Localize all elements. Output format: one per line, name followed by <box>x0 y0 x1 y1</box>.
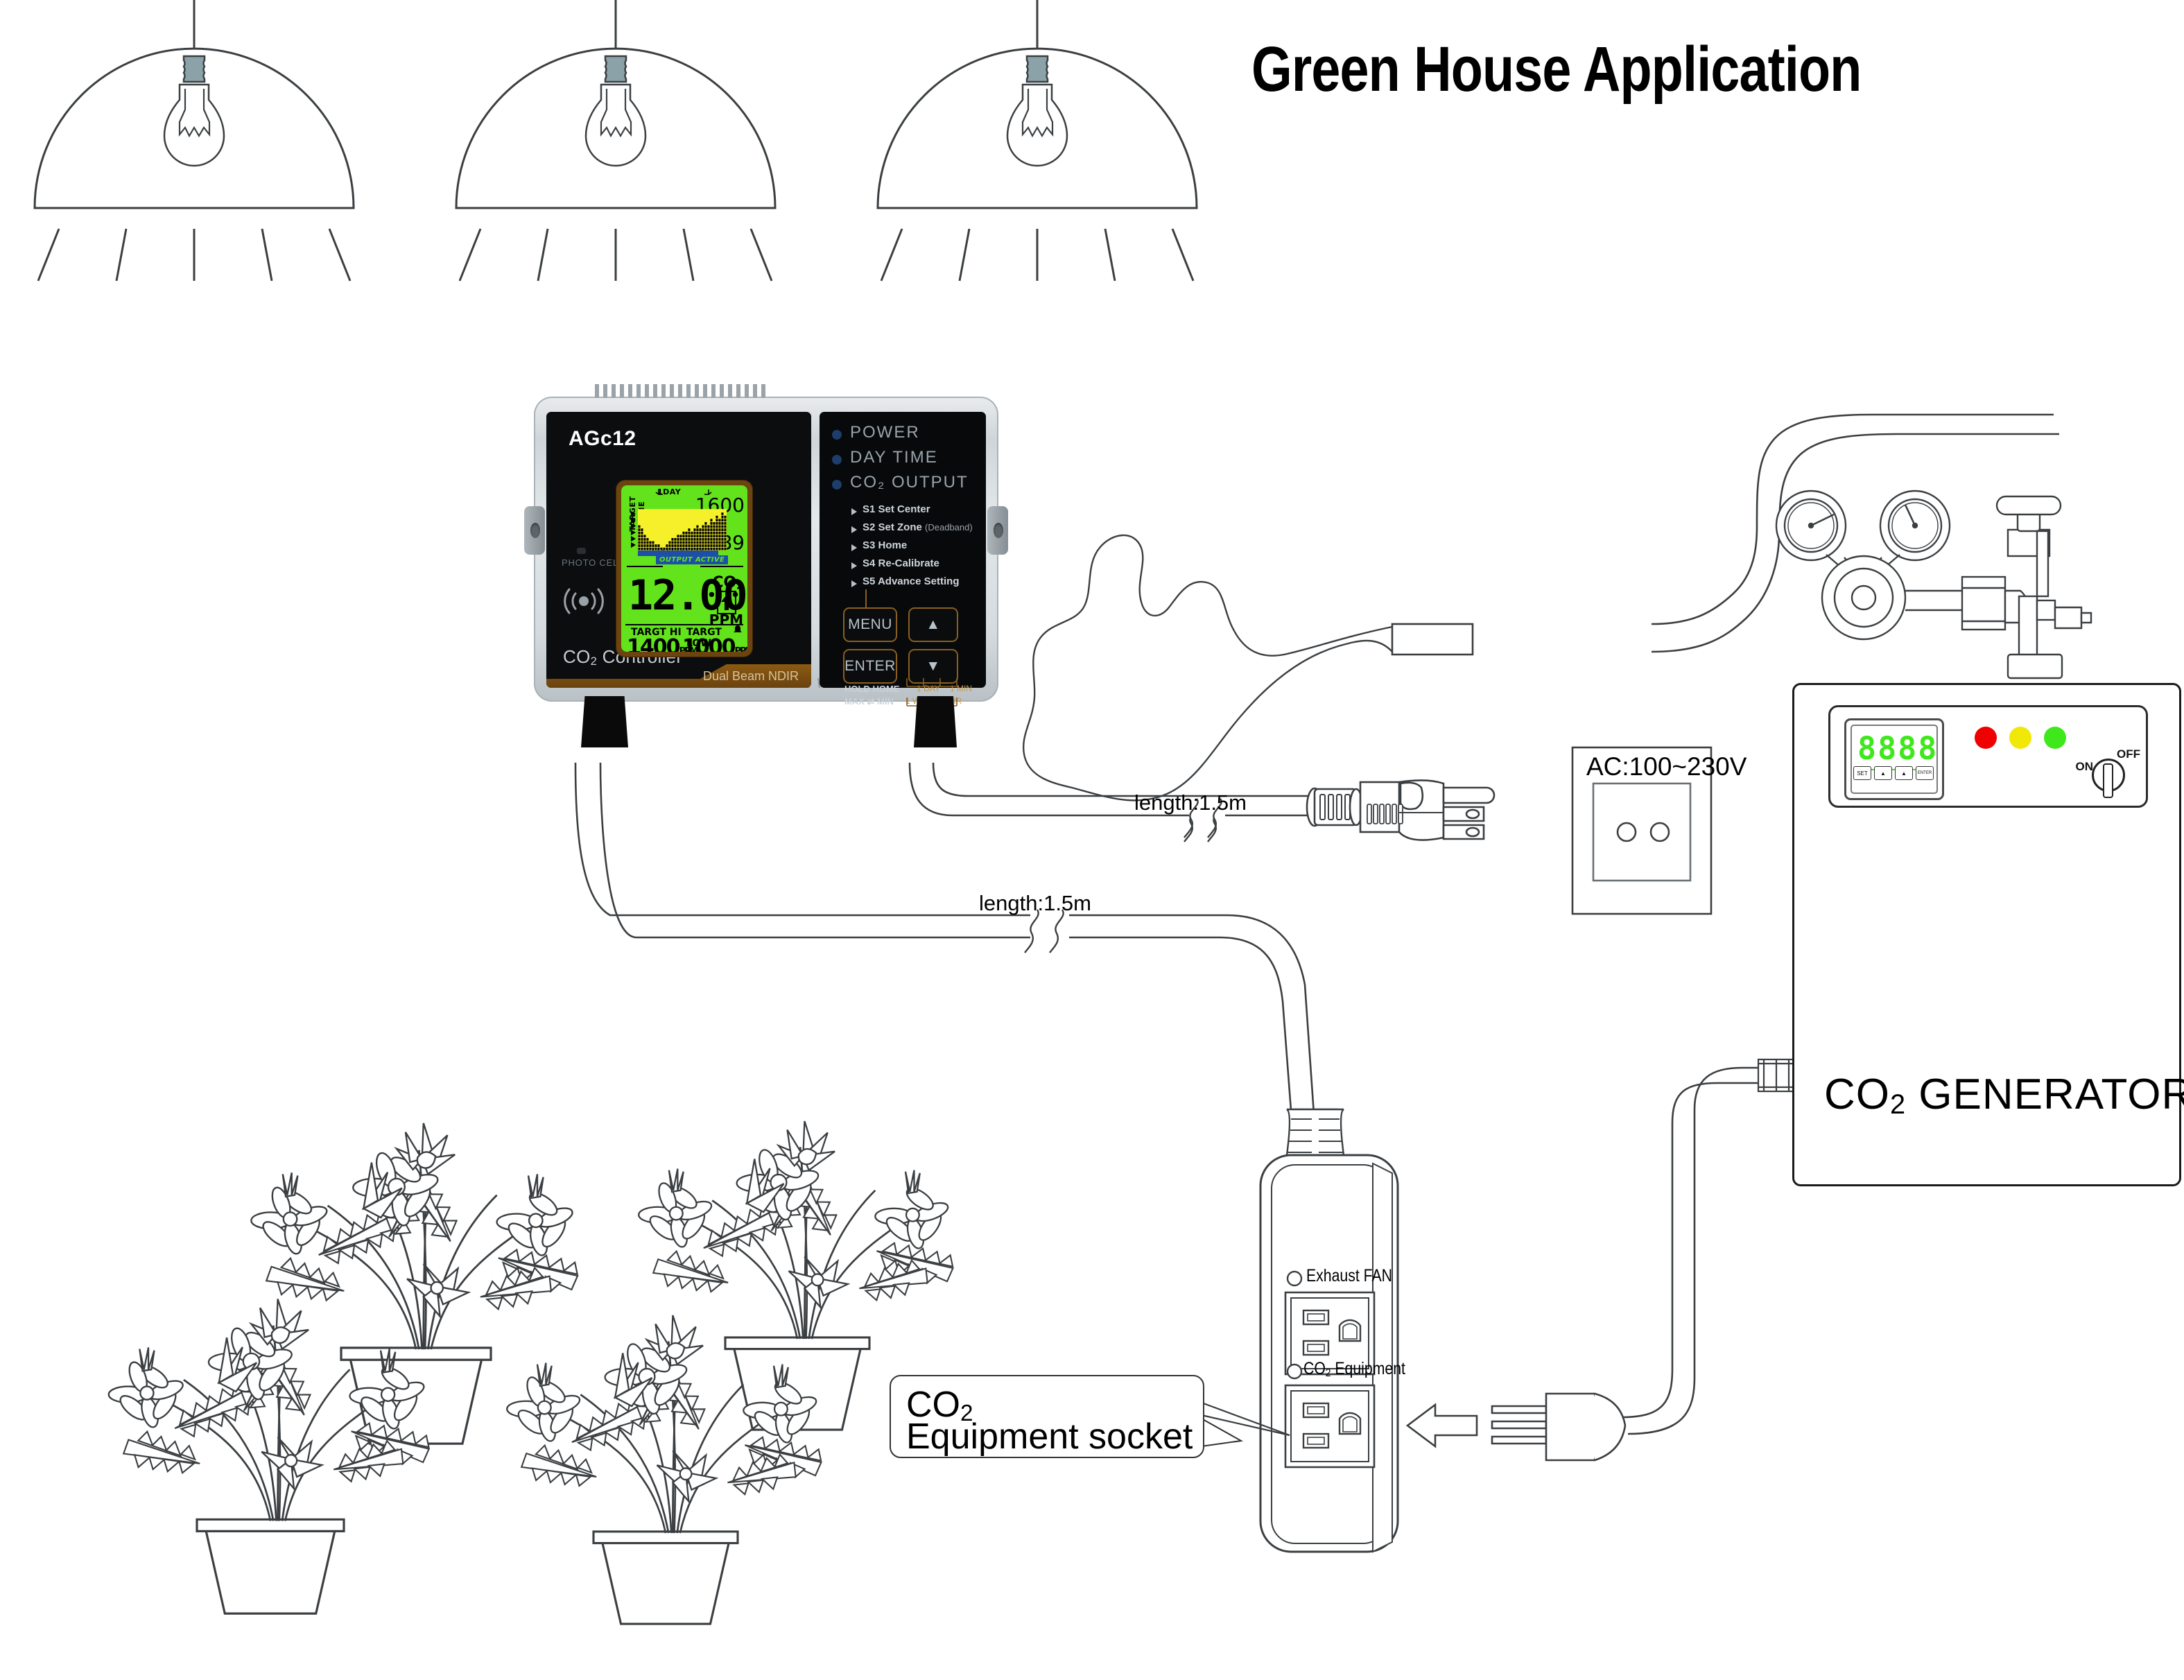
mount-hole-right <box>994 523 1003 538</box>
callout-line-2: Equipment socket <box>906 1415 1193 1459</box>
menu-button[interactable]: MENU <box>843 607 897 642</box>
led-alarm-red <box>1975 727 1997 749</box>
page-title: Green House Application <box>1251 33 1862 106</box>
generator-display: 8888 <box>1851 725 1938 794</box>
generator-enter-button[interactable]: ENTER <box>1916 766 1934 780</box>
led-warn-yellow <box>2009 727 2031 749</box>
controller-side-panel: POWER DAY TIME CO₂ OUTPUT S1 Set Center … <box>820 412 986 688</box>
plants-group <box>109 1121 957 1624</box>
generator-control-panel: 8888 SET ▲ ▲ ENTER ON OFF <box>1828 705 2148 808</box>
lcd-divider-left <box>627 566 663 567</box>
max-min-hint: MAX ⇄ MIN <box>844 696 894 707</box>
wireless-sensor-icon <box>562 587 606 616</box>
menu-item-s4: S4 Re-Calibrate <box>863 557 939 569</box>
enter-button[interactable]: ENTER <box>843 649 897 684</box>
power-switch-knob[interactable] <box>2092 759 2125 792</box>
hose-connector <box>1392 624 1473 655</box>
lcd-divider-right <box>700 566 743 567</box>
lamp-group <box>35 0 1197 281</box>
vent-slots-top <box>595 384 770 399</box>
generator-set-button[interactable]: SET <box>1853 766 1871 780</box>
generator-title: CO2 GENERATOR <box>1824 1070 2184 1120</box>
cable-gland-right <box>914 696 957 747</box>
up-button[interactable]: ▲ <box>908 607 958 642</box>
menu-item-s2: S2 Set Zone (Deadband) <box>863 521 973 533</box>
power-cable <box>910 763 1310 815</box>
output-active-label: OUTPUT ACTIVE <box>656 555 728 564</box>
generator-display-value: 8888 <box>1857 730 1938 767</box>
cable-gland-left <box>581 696 628 747</box>
power-strip <box>1260 1109 1398 1552</box>
controller-front-panel: AGc12 PHOTO CELL CO2 Controller Dual Bea… <box>546 412 811 688</box>
menu-item-s5: S5 Advance Setting <box>863 575 959 587</box>
callout-box: CO2 Equipment socket <box>890 1375 1204 1458</box>
menu-item-s1: S1 Set Center <box>863 503 930 515</box>
knob-indicator <box>2103 763 2113 798</box>
bullet-arrow-1-icon <box>851 508 857 515</box>
hose-coil <box>1023 535 1392 800</box>
mount-hole-left <box>530 523 540 538</box>
menu-connector-line <box>865 589 867 607</box>
photocell-sensor <box>577 548 586 554</box>
tech-band-label: Dual Beam NDIR <box>703 669 799 684</box>
generator-plug <box>1492 1394 1625 1460</box>
switch-on-label: ON <box>2076 760 2094 774</box>
switch-off-label: OFF <box>2117 747 2140 761</box>
power-cable-length-label: length:1.5m <box>1134 790 1247 815</box>
lcd-screen: TARGET ZONE 1DAY 1600 689 OUTPUT ACTIVE … <box>621 485 747 652</box>
outlet-2-label: CO2 Equipment <box>1303 1359 1405 1380</box>
menu-item-s3: S3 Home <box>863 539 907 551</box>
led-co2-output-label: CO₂ OUTPUT <box>850 473 969 492</box>
generator-up-button-1[interactable]: ▲ <box>1874 766 1892 780</box>
generator-up-button-2[interactable]: ▲ <box>1895 766 1913 780</box>
brand-label: AGc12 <box>569 427 636 451</box>
outlet-1-label: Exhaust FAN <box>1306 1266 1392 1286</box>
mount-tab-left <box>524 506 545 555</box>
led-power-label: POWER <box>850 423 920 442</box>
photocell-label: PHOTO CELL <box>562 557 624 568</box>
co2-regulator <box>1776 491 2091 678</box>
bullet-arrow-2-icon <box>851 526 857 533</box>
lcd-bezel: TARGET ZONE 1DAY 1600 689 OUTPUT ACTIVE … <box>616 480 753 657</box>
led-power-dot <box>832 430 842 440</box>
alarm-bell-icon <box>732 624 743 635</box>
mount-tab-right <box>987 506 1008 555</box>
wall-outlet-label: AC:100~230V <box>1586 752 1747 781</box>
lcd-gas-label: CO2 <box>712 574 743 592</box>
insert-arrow-icon <box>1407 1405 1477 1446</box>
bullet-arrow-5-icon <box>851 580 857 587</box>
co2-controller[interactable]: AGc12 PHOTO CELL CO2 Controller Dual Bea… <box>534 384 998 710</box>
bullet-arrow-3-icon <box>851 544 857 551</box>
generator-cord-gland <box>1758 1059 1796 1091</box>
socket-cable <box>575 763 1316 1147</box>
led-day-time-label: DAY TIME <box>850 448 938 467</box>
lcd-divider-bottom <box>625 624 743 625</box>
co2-generator[interactable]: 8888 SET ▲ ▲ ENTER ON OFF CO2 GENERATOR <box>1792 683 2177 1182</box>
led-run-green <box>2044 727 2066 749</box>
target-low-value: 1000PPM <box>682 635 747 652</box>
plug-strain-relief <box>1307 788 1362 826</box>
socket-cable-length-label: length:1.5m <box>979 891 1091 916</box>
trend-up-arrow-icon <box>717 591 736 614</box>
led-day-time-dot <box>832 455 842 465</box>
power-plug <box>1307 780 1494 840</box>
diagram-canvas: Green House Application AGc12 PHOTO CELL <box>0 0 2184 1680</box>
hold-home-hint: HOLD HOME <box>844 684 899 694</box>
bullet-arrow-4-icon <box>851 562 857 569</box>
generator-display-bezel: 8888 SET ▲ ▲ ENTER <box>1844 718 1944 800</box>
led-co2-output-dot <box>832 480 842 490</box>
generator-power-cable <box>1622 1068 1775 1434</box>
